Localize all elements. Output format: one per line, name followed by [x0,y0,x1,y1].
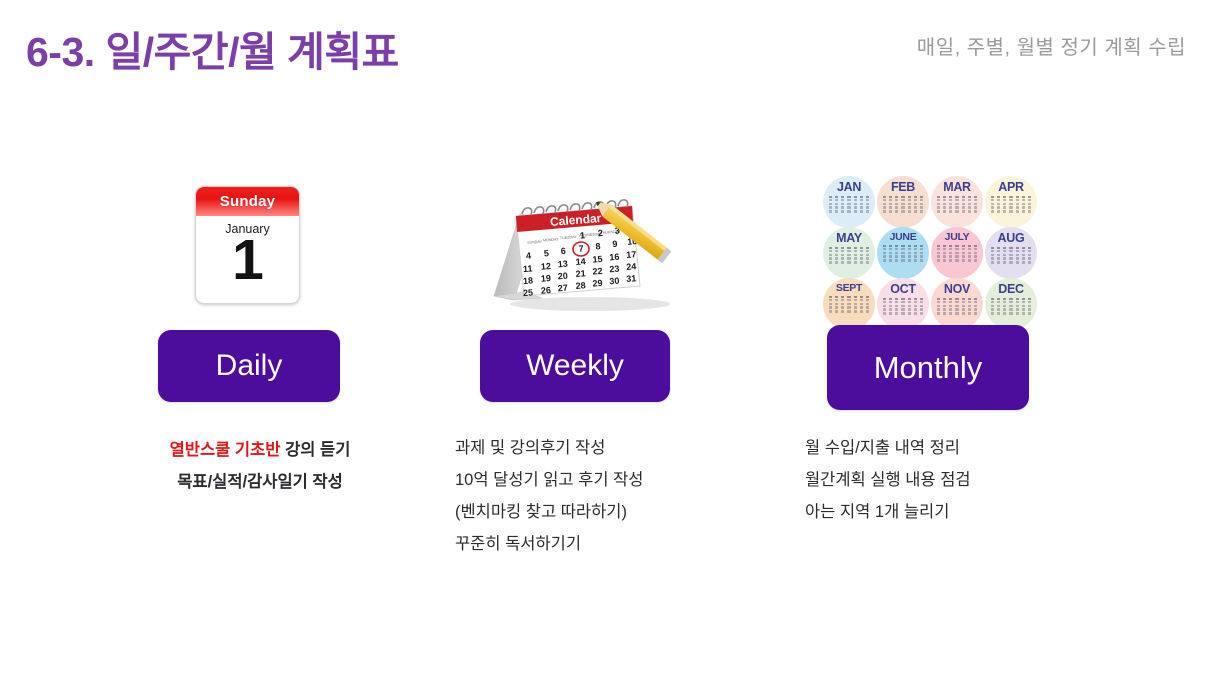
svg-text:27: 27 [557,283,568,294]
month-label: DEC [998,283,1024,296]
month-circle-mar: MAR [931,176,983,228]
monthly-description-line-2: 월간계획 실행 내용 점검 [805,465,1065,497]
weekly-button[interactable]: Weekly [480,330,670,402]
page-title: 6-3. 일/주간/월 계획표 [26,18,399,78]
desk-calendar-with-pencil-icon: Calendar [480,178,690,318]
monthly-description: 월 수입/지출 내역 정리 월간계획 실행 내용 점검 아는 지역 1개 늘리기 [805,415,1065,529]
svg-text:20: 20 [557,271,568,282]
monthly-button-wrap: Monthly [805,320,1065,415]
month-circle-july: JULY [931,227,983,279]
month-label: OCT [890,283,916,296]
monthly-description-line-3: 아는 지역 1개 늘리기 [805,497,1065,529]
monthly-button[interactable]: Monthly [827,325,1029,410]
month-label: JUNE [890,232,917,243]
month-label: JULY [945,232,970,243]
svg-text:29: 29 [592,278,603,289]
day-calendar-icon: Sunday January 1 [195,186,300,304]
svg-text:11: 11 [523,263,533,274]
month-mini-grid [883,245,923,264]
month-circle-apr: APR [985,176,1037,228]
svg-text:25: 25 [523,287,534,298]
svg-text:31: 31 [626,273,637,284]
page-subtitle: 매일, 주별, 월별 정기 계획 수립 [917,31,1186,60]
svg-text:28: 28 [575,280,586,291]
month-label: SEPT [836,283,862,294]
svg-text:9: 9 [612,239,618,249]
svg-text:6: 6 [560,246,566,256]
svg-text:4: 4 [526,251,532,261]
month-mini-grid [829,296,869,315]
month-label: MAR [943,181,971,194]
month-circle-may: MAY [823,227,875,279]
svg-text:2: 2 [598,228,604,238]
svg-text:7: 7 [578,243,584,253]
daily-artwork: Sunday January 1 [140,170,380,320]
month-label: FEB [891,181,915,194]
month-label: NOV [944,283,970,296]
daily-rest-text: 강의 듣기 [280,441,350,459]
column-monthly: JANFEBMARAPRMAYJUNEJULYAUGSEPTOCTNOVDEC … [805,170,1065,529]
month-mini-grid [829,247,869,266]
month-circle-feb: FEB [877,176,929,228]
svg-text:13: 13 [557,259,568,270]
month-circle-june: JUNE [877,227,929,279]
month-mini-grid [991,247,1031,266]
twelve-month-circles-icon: JANFEBMARAPRMAYJUNEJULYAUGSEPTOCTNOVDEC [823,176,1039,329]
svg-text:26: 26 [540,285,551,296]
svg-text:22: 22 [592,266,603,277]
month-label: MAY [836,232,862,245]
daily-button[interactable]: Daily [158,330,340,402]
month-mini-grid [937,245,977,264]
svg-text:14: 14 [575,256,586,267]
month-label: AUG [998,232,1025,245]
daily-description: 열반스쿨 기초반 강의 듣기 목표/실적/감사일기 작성 [140,415,380,499]
svg-text:12: 12 [540,261,551,272]
month-mini-grid [937,298,977,317]
plan-columns: Sunday January 1 Daily 열반스쿨 기초반 강의 듣기 목표… [0,170,1210,600]
svg-text:18: 18 [523,275,534,286]
daily-button-wrap: Daily [140,320,380,415]
column-daily: Sunday January 1 Daily 열반스쿨 기초반 강의 듣기 목표… [140,170,380,499]
month-mini-grid [991,298,1031,317]
svg-text:17: 17 [626,249,637,260]
month-mini-grid [937,196,977,215]
month-label: JAN [837,181,861,194]
month-mini-grid [829,196,869,215]
monthly-artwork: JANFEBMARAPRMAYJUNEJULYAUGSEPTOCTNOVDEC [805,170,1065,320]
month-circle-aug: AUG [985,227,1037,279]
day-calendar-day: 1 [196,234,299,287]
svg-text:8: 8 [595,241,601,251]
daily-description-line-2: 목표/실적/감사일기 작성 [140,467,380,499]
weekly-artwork: Calendar [455,170,715,320]
slide-root: 6-3. 일/주간/월 계획표 매일, 주별, 월별 정기 계획 수립 Sund… [0,0,1210,681]
svg-text:1: 1 [580,230,586,240]
daily-highlight-text: 열반스쿨 기초반 [170,441,281,459]
svg-text:16: 16 [609,252,620,263]
month-label: APR [998,181,1024,194]
column-weekly: Calendar [455,170,715,560]
weekly-description: 과제 및 강의후기 작성 10억 달성기 읽고 후기 작성 (벤치마킹 찾고 따… [455,415,715,560]
month-mini-grid [883,196,923,215]
svg-text:23: 23 [609,264,620,275]
svg-text:30: 30 [609,276,620,287]
svg-text:15: 15 [592,254,603,265]
month-circle-jan: JAN [823,176,875,228]
day-calendar-weekday: Sunday [196,187,299,216]
weekly-description-line-4: 꾸준히 독서하기기 [455,529,715,561]
daily-description-line-1: 열반스쿨 기초반 강의 듣기 [140,435,380,467]
weekly-description-line-3: (벤치마킹 찾고 따라하기) [455,497,715,529]
svg-text:19: 19 [540,273,551,284]
monthly-description-line-1: 월 수입/지출 내역 정리 [805,433,1065,465]
month-mini-grid [883,298,923,317]
svg-text:24: 24 [626,261,637,272]
weekly-button-wrap: Weekly [455,320,715,415]
svg-text:21: 21 [575,268,586,279]
month-mini-grid [991,196,1031,215]
weekly-description-line-1: 과제 및 강의후기 작성 [455,433,715,465]
weekly-description-line-2: 10억 달성기 읽고 후기 작성 [455,465,715,497]
svg-text:5: 5 [543,248,549,258]
